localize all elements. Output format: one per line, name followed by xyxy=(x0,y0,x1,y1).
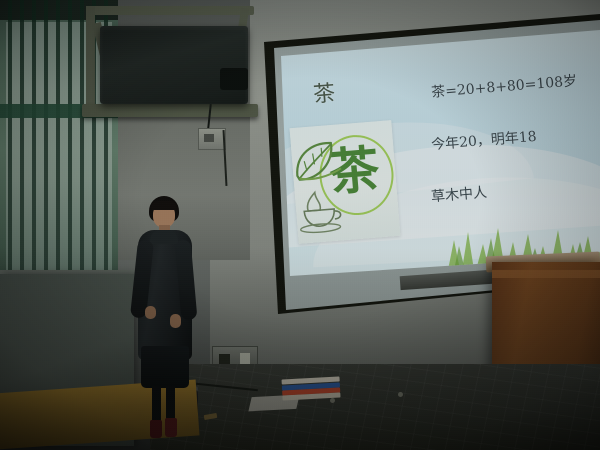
tiled-floor xyxy=(150,364,600,450)
presenter-collar xyxy=(150,230,178,244)
floor-small-object xyxy=(330,398,335,403)
bracket-arm-top xyxy=(86,6,254,15)
podium-lip xyxy=(492,270,600,278)
presenter-hand-right xyxy=(170,314,181,328)
projector xyxy=(100,26,248,104)
slide-title-character: 茶 xyxy=(312,75,338,109)
socket-plug xyxy=(204,134,214,142)
presenter-boot-right xyxy=(165,418,177,437)
socket-opening xyxy=(219,354,230,364)
presenter-leg-left xyxy=(152,386,161,424)
tea-leaf-icon xyxy=(291,138,351,188)
presenter-coat-lower xyxy=(141,346,189,388)
curtain-fold xyxy=(8,0,12,300)
bracket-shelf xyxy=(82,104,258,117)
presenter-hand-left xyxy=(145,306,156,319)
teacup-icon xyxy=(296,186,352,236)
curtain-fold xyxy=(32,0,36,300)
stacked-books xyxy=(282,376,341,399)
curtain-fold xyxy=(68,0,72,300)
floor-small-object xyxy=(398,392,403,397)
presenter-fringe xyxy=(151,201,177,210)
photo-scene: 茶 茶=20+8+80=108岁 今年20，明年18 草木中人 茶 xyxy=(0,0,600,450)
curtain-fold xyxy=(44,0,48,300)
presenter-boot-left xyxy=(150,420,162,438)
curtain-fold xyxy=(20,0,24,300)
tea-logo-card: 茶 xyxy=(290,120,401,244)
presenter xyxy=(128,196,200,440)
projected-slide: 茶 茶=20+8+80=108岁 今年20，明年18 草木中人 茶 xyxy=(271,28,600,276)
curtain-fold xyxy=(56,0,60,300)
slide-text-line-1: 茶=20+8+80=108岁 xyxy=(430,70,577,102)
curtain-fold xyxy=(80,0,84,300)
projector-lens xyxy=(220,68,248,90)
